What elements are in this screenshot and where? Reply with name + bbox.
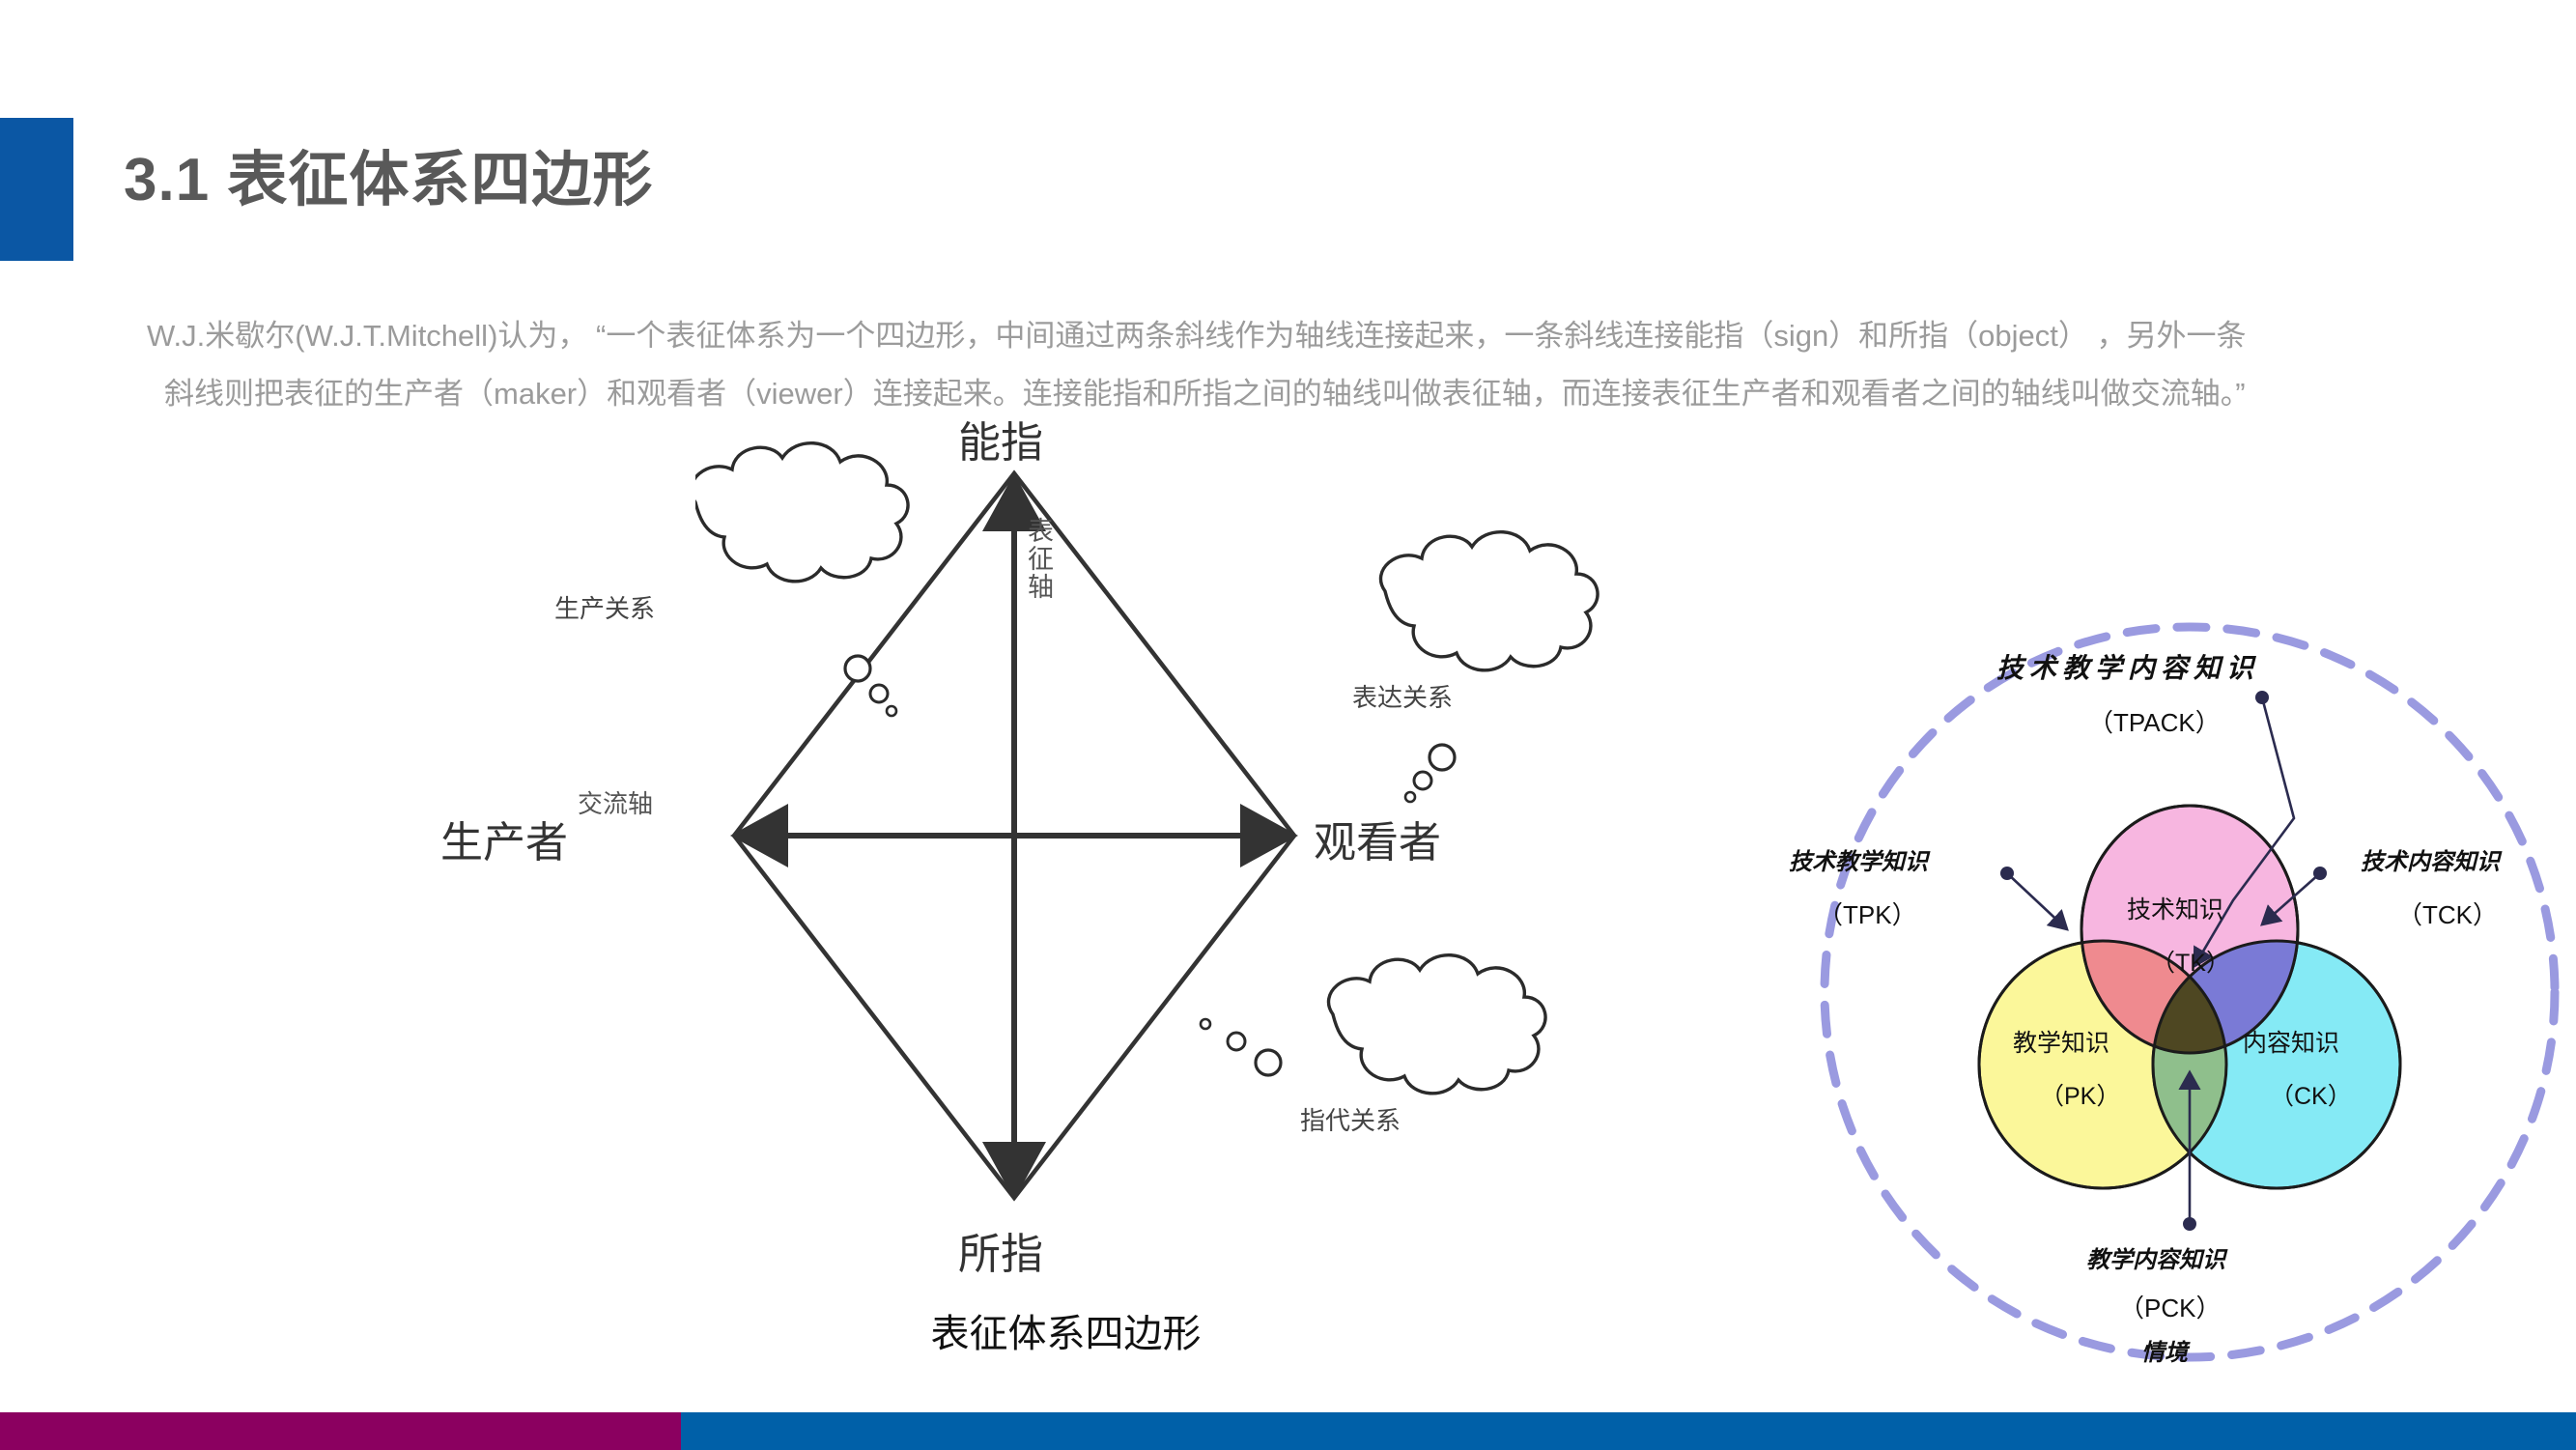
label-tck-abbr: （TCK） (2397, 896, 2498, 931)
page-title: 3.1 表征体系四边形 (124, 130, 653, 217)
axis-label-representation: 表征轴 (1028, 518, 1054, 602)
representation-quadrilateral-diagram: 能指 所指 生产者 观看者 表征轴 交流轴 生产关系 表达关系 指代关系 (695, 425, 1835, 1343)
label-pk-name: 教学知识 (2013, 1024, 2109, 1059)
footer-magenta-segment (0, 1412, 681, 1450)
axis-label-communication: 交流轴 (578, 784, 653, 820)
vertex-label-signified: 所指 (958, 1219, 1043, 1281)
title-accent-bar (0, 118, 73, 261)
label-tpk-abbr: （TPK） (1818, 896, 1917, 931)
label-ck-abbr: （CK） (2270, 1077, 2352, 1112)
tpack-diagram: 技术教学内容知识 （TPACK） 技术知识 （TK） 技术教学知识 （TPK） … (1808, 611, 2571, 1374)
leader-dot-pck (2183, 1217, 2196, 1231)
label-tk-name: 技术知识 (2127, 891, 2223, 925)
footer-bar (0, 1412, 2576, 1450)
label-tk-abbr: （TK） (2151, 944, 2230, 979)
label-tck-name: 技术内容知识 (2361, 842, 2500, 876)
leader-tpk (2007, 873, 2067, 929)
label-context: 情境 (2141, 1333, 2188, 1367)
label-pk-abbr: （PK） (2040, 1077, 2120, 1112)
body-line-2: 斜线则把表征的生产者（maker）和观看者（viewer）连接起来。连接能指和所… (147, 365, 2446, 423)
label-pck-name: 教学内容知识 (2086, 1240, 2225, 1274)
figure-caption: 表征体系四边形 (931, 1302, 1202, 1358)
vertex-label-signifier: 能指 (958, 408, 1043, 469)
cloud-reference-relation (1201, 955, 1545, 1094)
vertex-label-producer: 生产者 (440, 808, 568, 869)
label-tpk-name: 技术教学知识 (1789, 842, 1928, 876)
tpack-outer-title: 技术教学内容知识 (1996, 647, 2259, 686)
body-paragraph: W.J.米歇尔(W.J.T.Mitchell)认为， “一个表征体系为一个四边形… (147, 307, 2446, 423)
slide-root: 3.1 表征体系四边形 W.J.米歇尔(W.J.T.Mitchell)认为， “… (0, 0, 2576, 1450)
label-pck-abbr: （PCK） (2119, 1289, 2221, 1324)
diamond-svg (695, 425, 1835, 1343)
tpack-outer-abbr: （TPACK） (2088, 703, 2221, 739)
leader-dot-tpk (2000, 867, 2014, 880)
vertex-label-viewer: 观看者 (1314, 808, 1441, 869)
body-line-1: W.J.米歇尔(W.J.T.Mitchell)认为， “一个表征体系为一个四边形… (147, 319, 2247, 353)
leader-dot-tck (2313, 867, 2327, 880)
cloud-label-reference-relation: 指代关系 (1300, 1101, 1401, 1137)
cloud-production-relation (695, 443, 908, 716)
cloud-label-expression-relation: 表达关系 (1352, 678, 1453, 714)
footer-blue-segment (681, 1412, 2576, 1450)
leader-dot-tpack (2255, 691, 2269, 704)
label-ck-name: 内容知识 (2243, 1024, 2339, 1059)
cloud-label-production-relation: 生产关系 (554, 589, 655, 625)
cloud-expression-relation (1381, 532, 1599, 802)
